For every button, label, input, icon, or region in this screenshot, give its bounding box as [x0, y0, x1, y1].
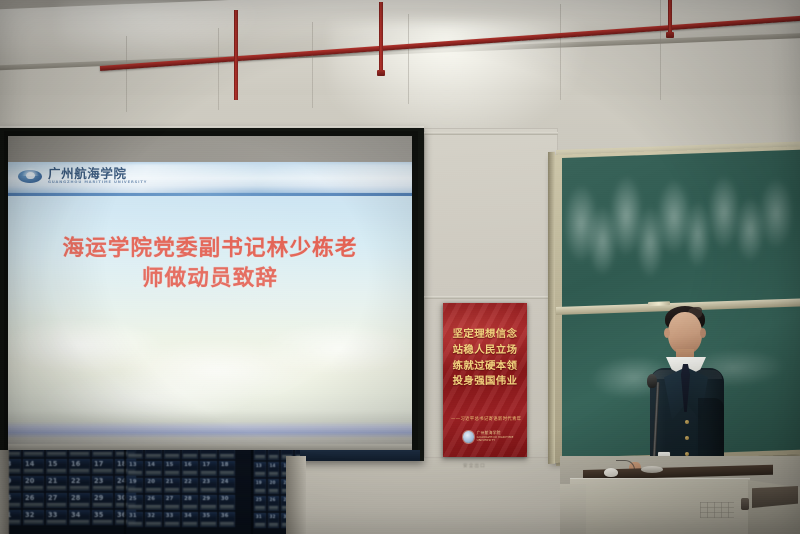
speaker-ear-left: [664, 328, 670, 338]
key-cabinet-number: 23: [94, 477, 104, 485]
key-cabinet-number: 8: [25, 450, 30, 451]
key-cabinet-slip: [93, 520, 112, 524]
speaker-ear-right: [700, 328, 706, 338]
key-cabinet-slip: [93, 486, 112, 490]
key-cabinet-slip: [183, 522, 197, 526]
screen-top-grey-band: [8, 136, 412, 162]
key-cabinet-number: 29: [94, 494, 104, 502]
key-cabinet-slip: [269, 523, 279, 527]
key-cabinet-cell[interactable]: 11: [200, 450, 216, 459]
key-cabinet-number: 9: [166, 450, 170, 451]
wall-panel-joint: [660, 0, 661, 100]
key-cabinet-slip: [24, 452, 43, 456]
key-cabinet-slip: [24, 486, 43, 490]
key-cabinet-cell[interactable]: 36: [219, 512, 235, 527]
key-cabinet-cell[interactable]: 20: [145, 478, 161, 493]
key-cabinet-number: 16: [71, 460, 81, 468]
key-cabinet-cell[interactable]: 19: [254, 479, 266, 494]
key-cabinet-cell[interactable]: 9: [46, 450, 67, 457]
speaker-head: [668, 312, 702, 354]
key-cabinet-slip: [220, 488, 234, 492]
key-cabinet-cell[interactable]: 28: [182, 495, 198, 510]
key-cabinet-cell[interactable]: 21: [164, 478, 180, 493]
key-cabinet-cell[interactable]: 34: [182, 512, 198, 527]
key-cabinet-cell[interactable]: 35: [200, 512, 216, 527]
university-name-cn: 广州航海学院: [48, 167, 147, 180]
microphone-icon: [647, 374, 657, 388]
key-cabinet-cell[interactable]: 17: [200, 461, 216, 476]
key-cabinet-cell[interactable]: 14: [145, 461, 161, 476]
university-logo: 广州航海学院 GUANGZHOU MARITIME UNIVERSITY: [17, 166, 147, 185]
wall-panel-joint: [312, 22, 313, 108]
key-cabinet-cell[interactable]: 30: [219, 495, 235, 510]
key-cabinet-slip: [201, 522, 215, 526]
key-cabinet-cell[interactable]: 19: [127, 478, 143, 493]
key-cabinet-number: 13: [256, 463, 262, 468]
key-cabinet-number: 9: [283, 450, 286, 451]
wall-panel-joint: [560, 4, 561, 100]
key-cabinet-cell[interactable]: 24: [219, 478, 235, 493]
key-cabinet-number: 7: [256, 450, 259, 451]
podium-vent-grille: [700, 502, 734, 518]
key-cabinet-cell[interactable]: 32: [268, 513, 280, 528]
key-cabinet-slip: [70, 452, 89, 456]
key-cabinet-cell[interactable]: 18: [219, 461, 235, 476]
key-cabinet-cell[interactable]: 13: [127, 461, 143, 476]
podium-knob[interactable]: [741, 498, 749, 510]
key-cabinet-number: 17: [202, 462, 210, 468]
key-cabinet-number: 26: [270, 497, 276, 502]
key-cabinet-slip: [93, 469, 112, 473]
key-cabinet-slip: [255, 455, 265, 459]
key-cabinet-cell[interactable]: 7: [127, 450, 143, 459]
key-cabinet-number: 14: [147, 462, 155, 468]
key-cabinet-number: 21: [48, 477, 58, 485]
key-cabinet-cell[interactable]: 11: [92, 450, 113, 457]
key-cabinet-slip: [165, 505, 179, 509]
banner-slogan-line: 投身强国伟业: [448, 374, 522, 390]
projection-screen[interactable]: 广州航海学院 GUANGZHOU MARITIME UNIVERSITY 海运学…: [0, 128, 424, 461]
key-cabinet-cell[interactable]: 8: [23, 450, 44, 457]
sprinkler-pipe-drop: [379, 2, 383, 74]
projected-slide-surface: 广州航海学院 GUANGZHOU MARITIME UNIVERSITY 海运学…: [8, 136, 412, 444]
key-cabinet-cell[interactable]: 28: [69, 493, 90, 508]
key-cabinet-slip: [128, 488, 142, 492]
key-cabinet-number: 25: [129, 496, 137, 502]
key-cabinet-cell[interactable]: 16: [182, 461, 198, 476]
banner-slogan-line: 站稳人民立场: [448, 343, 522, 359]
computer-mouse-icon[interactable]: [604, 468, 618, 477]
key-cabinet-slip: [269, 506, 279, 510]
slide-title-line-2: 师做动员致辞: [8, 264, 412, 294]
key-cabinet-number: 13: [129, 462, 137, 468]
key-cabinet-number: 15: [166, 462, 174, 468]
key-cabinet-number: 35: [94, 511, 104, 519]
key-cabinet-number: 28: [184, 496, 192, 502]
key-cabinet-slip: [24, 520, 43, 524]
key-cabinet-cell[interactable]: 14: [268, 462, 280, 477]
key-cabinet-slip: [220, 471, 234, 475]
key-cabinet-slip: [128, 471, 142, 475]
key-cabinet-slip: [201, 488, 215, 492]
key-cabinet-slip: [128, 522, 142, 526]
key-cabinet-number: 25: [256, 497, 262, 502]
key-cabinet-number: 10: [71, 450, 81, 451]
key-cabinet-number: 34: [71, 511, 81, 519]
key-cabinet-number: 17: [94, 460, 104, 468]
key-cabinet-slip: [201, 505, 215, 509]
key-cabinet-number: 9: [48, 450, 53, 451]
key-cabinet-number: 35: [202, 513, 210, 519]
slide-title: 海运学院党委副书记林少栋老 师做动员致辞: [8, 234, 412, 294]
key-cabinet-number: 14: [270, 463, 276, 468]
key-cabinet-slip: [269, 472, 279, 476]
key-cabinet-slip: [47, 469, 66, 473]
emblem-circle: [463, 431, 474, 443]
key-cabinet-slip: [183, 454, 197, 458]
key-cabinet-cell[interactable]: 14: [23, 459, 44, 474]
key-cabinet-cell[interactable]: 27: [46, 493, 67, 508]
banner-slogan-list: 坚定理想信念 站稳人民立场 练就过硬本领 投身强国伟业: [448, 327, 522, 390]
slide-title-line-1: 海运学院党委副书记林少栋老: [8, 234, 412, 264]
key-cabinet-cell[interactable]: 34: [69, 510, 90, 525]
powerpoint-slide: 广州航海学院 GUANGZHOU MARITIME UNIVERSITY 海运学…: [8, 162, 412, 444]
key-cabinet-slip: [70, 520, 89, 524]
key-cabinet-slip: [24, 469, 43, 473]
key-cabinet-number: 20: [147, 479, 155, 485]
microphone-base: [641, 466, 663, 473]
key-cabinet-cell[interactable]: 8: [145, 450, 161, 459]
sprinkler-pipe-drop: [234, 10, 238, 100]
key-cabinet-slip: [183, 488, 197, 492]
key-cabinet-number: 32: [147, 513, 155, 519]
key-cabinet-cell[interactable]: 25: [254, 496, 266, 511]
key-cabinet-slip: [128, 505, 142, 509]
wall-panel-joint: [408, 14, 409, 104]
key-cabinet-cell[interactable]: 8: [268, 450, 280, 460]
classroom-photo-scene: 广州航海学院 GUANGZHOU MARITIME UNIVERSITY 海运学…: [0, 0, 800, 534]
key-cabinet-number: 24: [221, 479, 229, 485]
key-cabinet-cell[interactable]: 29: [92, 493, 113, 508]
key-cabinet-cell[interactable]: 13: [254, 462, 266, 477]
wall-panel-joint: [218, 28, 219, 110]
key-cabinet-slip: [47, 503, 66, 507]
key-cabinet-cell[interactable]: 21: [46, 476, 67, 491]
key-cabinet-number: 10: [297, 450, 300, 451]
wall-panel-trim-bottom: [424, 296, 558, 299]
key-cabinet-cell[interactable]: 22: [182, 478, 198, 493]
key-cabinet-number: 28: [71, 494, 81, 502]
key-cabinet-number: 31: [256, 514, 262, 519]
key-cabinet-slip: [146, 522, 160, 526]
key-cabinet-cell[interactable]: 33: [46, 510, 67, 525]
emblem-label-en: GUANGZHOU MARITIME UNIVERSITY: [477, 436, 527, 443]
key-cabinet-cell[interactable]: 20: [268, 479, 280, 494]
key-cabinet-slip: [93, 503, 112, 507]
key-cabinet-number: 29: [202, 496, 210, 502]
banner-slogan-line: 练就过硬本领: [448, 359, 522, 375]
slide-header-underline: [8, 193, 412, 196]
key-cabinet-slip: [255, 472, 265, 476]
slide-cloud-texture: [8, 289, 412, 430]
key-cabinet-cell[interactable]: 10: [182, 450, 198, 459]
key-cabinet-number: 8: [147, 450, 151, 451]
key-cabinet-number: 15: [48, 460, 58, 468]
key-cabinet-slip: [70, 469, 89, 473]
key-cabinet-cell[interactable]: 35: [92, 510, 113, 525]
key-cabinet-cell[interactable]: 15: [46, 459, 67, 474]
key-cabinet-slip: [146, 471, 160, 475]
cabinet-left-post: [0, 450, 9, 534]
key-cabinet-slip: [47, 520, 66, 524]
slide-header-band: 广州航海学院 GUANGZHOU MARITIME UNIVERSITY: [8, 162, 412, 196]
key-cabinet-slip: [93, 452, 112, 456]
key-cabinet-number: 27: [48, 494, 58, 502]
key-cabinet-cell[interactable]: 17: [92, 459, 113, 474]
wall-light-glow-secondary: [60, 0, 260, 60]
key-cabinet-number: 27: [166, 496, 174, 502]
key-cabinet-slip: [70, 486, 89, 490]
key-cabinet-slip: [146, 488, 160, 492]
key-cabinet-number: 34: [184, 513, 192, 519]
key-cabinet-cell[interactable]: 12: [219, 450, 235, 459]
key-cabinet-grid[interactable]: 7891011121314151617181920212223242526272…: [0, 450, 300, 534]
banner-slogan-line: 坚定理想信念: [448, 327, 522, 343]
key-cabinet-cell[interactable]: 29: [200, 495, 216, 510]
wall-banner: 坚定理想信念 站稳人民立场 练就过硬本领 投身强国伟业 ——习近平总书记寄语新时…: [443, 303, 527, 457]
key-cabinet-number: 20: [270, 480, 276, 485]
key-cabinet-number: 23: [202, 479, 210, 485]
key-cabinet-number: 30: [221, 496, 229, 502]
key-cabinet-number: 22: [184, 479, 192, 485]
key-cabinet-cell[interactable]: 20: [23, 476, 44, 491]
key-cabinet-number: 18: [221, 462, 229, 468]
ship-wave-logo-icon: [17, 166, 44, 185]
key-cabinet-cell[interactable]: 32: [145, 512, 161, 527]
key-cabinet-slip: [183, 471, 197, 475]
key-cabinet-cell[interactable]: 31: [254, 513, 266, 528]
key-cabinet-slip: [47, 452, 66, 456]
banner-attribution: ——习近平总书记寄语新时代青年: [451, 416, 521, 422]
key-cabinet-slip: [201, 454, 215, 458]
key-cabinet-cell[interactable]: 9: [164, 450, 180, 459]
key-cabinet-number: 32: [270, 514, 276, 519]
key-cabinet-number: 36: [221, 513, 229, 519]
key-cabinet-number: 33: [48, 511, 58, 519]
key-cabinet-slip: [269, 489, 279, 493]
key-cabinet-slip: [165, 488, 179, 492]
key-cabinet-number: 8: [270, 450, 273, 451]
key-cabinet-slip: [201, 471, 215, 475]
key-cabinet-number: 11: [202, 450, 210, 451]
key-cabinet-slip: [165, 454, 179, 458]
key-cabinet-number: 10: [184, 450, 192, 451]
jacket-button: [685, 420, 689, 424]
key-cabinet-slip: [146, 454, 160, 458]
key-cabinet-cell[interactable]: 15: [164, 461, 180, 476]
key-cabinet-number: 21: [166, 479, 174, 485]
sprinkler-pipe-fitting: [377, 70, 385, 76]
key-cabinet-cell[interactable]: 33: [164, 512, 180, 527]
key-cabinet-slip: [183, 505, 197, 509]
key-cabinet-cell[interactable]: 23: [200, 478, 216, 493]
key-cabinet-slip: [165, 522, 179, 526]
chalkboard-left-edge: [548, 152, 555, 464]
key-cabinet-cell[interactable]: 31: [127, 512, 143, 527]
key-cabinet-divider: [251, 450, 253, 534]
key-cabinet-slip: [255, 489, 265, 493]
key-cabinet-number: 31: [129, 513, 137, 519]
key-cabinet-slip: [220, 522, 234, 526]
key-cabinet-number: 12: [221, 450, 229, 451]
university-name-en: GUANGZHOU MARITIME UNIVERSITY: [48, 180, 147, 184]
sprinkler-pipe-drop: [668, 0, 672, 36]
key-cabinet-cell[interactable]: 23: [92, 476, 113, 491]
key-cabinet-cell[interactable]: 25: [127, 495, 143, 510]
key-cabinet-number: 19: [129, 479, 137, 485]
key-cabinet-number: 32: [25, 511, 35, 519]
key-cabinet-number: 19: [256, 480, 262, 485]
key-cabinet-slip: [146, 505, 160, 509]
key-cabinet-slip: [47, 486, 66, 490]
desk-left-panel: [560, 484, 586, 534]
key-cabinet-slip: [70, 503, 89, 507]
key-cabinet-number: 14: [25, 460, 35, 468]
key-cabinet-slip: [220, 505, 234, 509]
key-cabinet-number: 33: [166, 513, 174, 519]
key-cabinet-number: 11: [94, 450, 104, 451]
wall-strip-right-of-cabinet: [286, 456, 306, 534]
key-cabinet-cell[interactable]: 26: [268, 496, 280, 511]
key-cabinet-slip: [255, 523, 265, 527]
key-cabinet-slip: [128, 454, 142, 458]
key-cabinet-slip: [255, 506, 265, 510]
key-cabinet-number: 26: [25, 494, 35, 502]
key-cabinet-slip: [220, 454, 234, 458]
key-cabinet-cell[interactable]: 32: [23, 510, 44, 525]
key-cabinet-number: 26: [147, 496, 155, 502]
key-cabinet-cell[interactable]: 22: [69, 476, 90, 491]
sprinkler-pipe-fitting: [666, 32, 674, 38]
wall-panel-trim-top: [424, 132, 558, 135]
key-cabinet-slip: [165, 471, 179, 475]
key-cabinet-number: 20: [25, 477, 35, 485]
key-cabinet-cell[interactable]: 16: [69, 459, 90, 474]
jacket-button: [685, 436, 689, 440]
key-cabinet-cell[interactable]: 26: [23, 493, 44, 508]
wall-panel-joint: [126, 36, 127, 112]
key-cabinet-number: 7: [129, 450, 133, 451]
university-emblem-icon: 广州航海学院 GUANGZHOU MARITIME UNIVERSITY: [463, 431, 527, 443]
wall-exit-sign-text: 安全出口: [463, 463, 486, 469]
key-cabinet-slip: [24, 503, 43, 507]
key-cabinet-cell[interactable]: 26: [145, 495, 161, 510]
key-cabinet-number: 16: [184, 462, 192, 468]
key-cabinet-slip: [269, 455, 279, 459]
key-cabinet-divider: [124, 450, 126, 534]
key-cabinet-cell[interactable]: 7: [254, 450, 266, 460]
key-cabinet-cell[interactable]: 27: [164, 495, 180, 510]
key-cabinet-cell[interactable]: 10: [69, 450, 90, 457]
key-cabinet-number: 22: [71, 477, 81, 485]
